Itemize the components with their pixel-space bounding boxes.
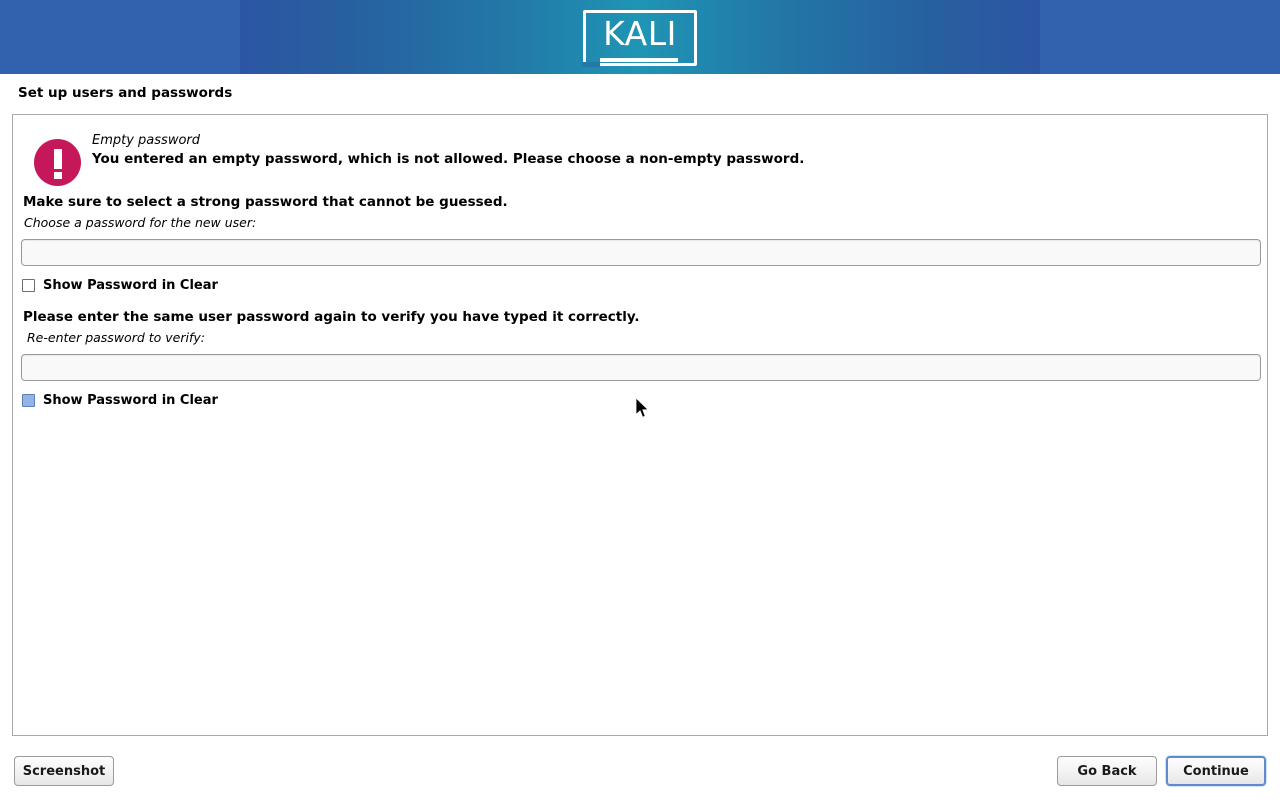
show-password-label-2: Show Password in Clear [43,393,218,408]
kali-logo: KALI [583,10,697,66]
continue-button[interactable]: Continue [1166,756,1266,786]
exclamation-stem [54,149,62,169]
password-input[interactable] [21,239,1261,266]
show-password-checkbox-2[interactable] [22,394,35,407]
kali-banner: KALI [0,0,1280,74]
go-back-button[interactable]: Go Back [1057,756,1157,786]
verify-password-heading: Please enter the same user password agai… [23,309,640,325]
error-title: Empty password [92,133,200,148]
exclamation-dot [54,172,62,179]
logo-notch [582,62,600,67]
show-password-checkbox-row-2[interactable]: Show Password in Clear [22,393,218,408]
show-password-label-1: Show Password in Clear [43,278,218,293]
logo-underline [600,58,678,62]
show-password-checkbox-1[interactable] [22,279,35,292]
verify-password-input[interactable] [21,354,1261,381]
password-label: Choose a password for the new user: [24,215,256,230]
installer-window: KALI Set up users and passwords Empty pa… [0,0,1280,800]
error-exclamation-icon [34,139,81,186]
main-panel: Empty password You entered an empty pass… [12,114,1268,736]
screenshot-button[interactable]: Screenshot [14,756,114,786]
page-title: Set up users and passwords [18,85,232,101]
verify-password-label: Re-enter password to verify: [27,330,205,345]
error-message: You entered an empty password, which is … [92,151,804,167]
show-password-checkbox-row-1[interactable]: Show Password in Clear [22,278,218,293]
logo-text: KALI [583,10,697,58]
password-strength-heading: Make sure to select a strong password th… [23,194,508,210]
